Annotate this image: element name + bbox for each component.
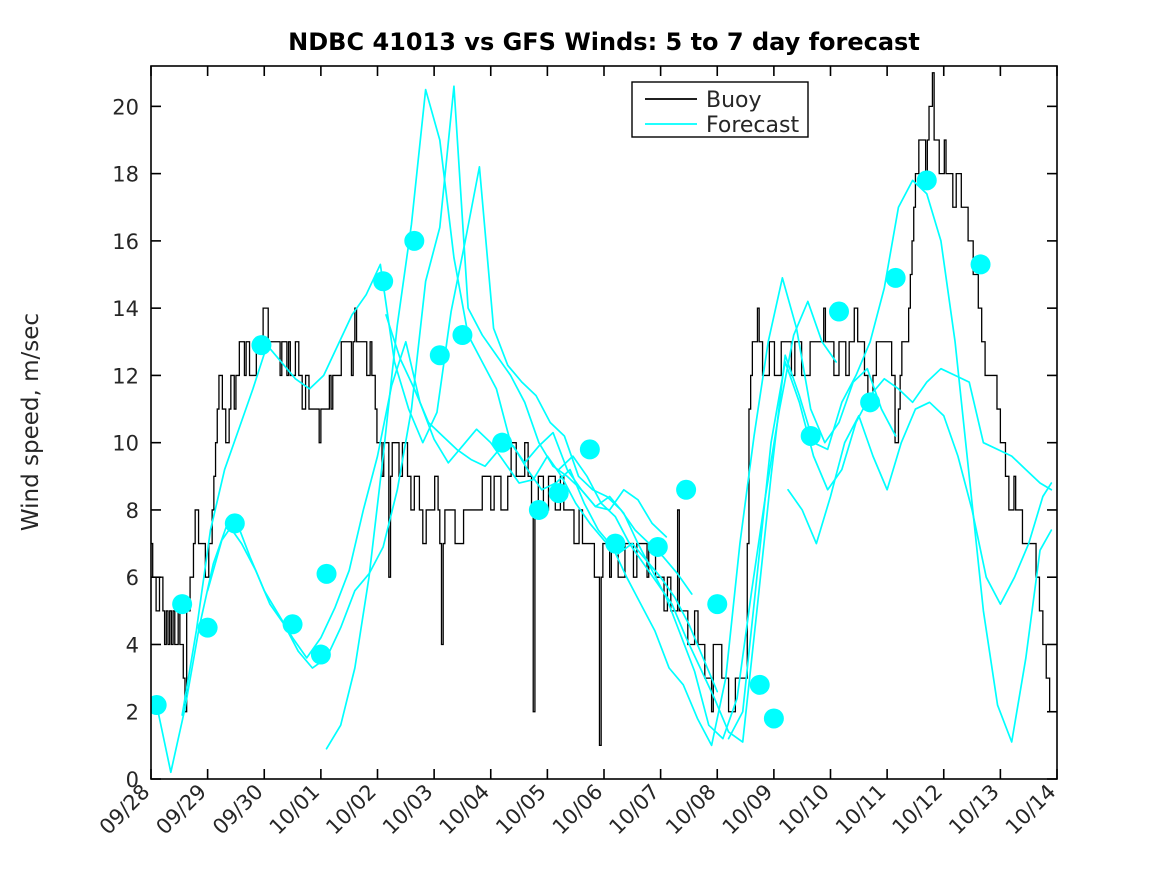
chart-title: NDBC 41013 vs GFS Winds: 5 to 7 day fore… <box>288 28 920 56</box>
forecast-marker-dot <box>605 534 625 554</box>
forecast-marker-dot <box>529 500 549 520</box>
y-tick-label: 14 <box>112 297 139 321</box>
forecast-marker-dot <box>492 433 512 453</box>
y-tick-label: 12 <box>112 364 139 388</box>
forecast-marker-dot <box>430 345 450 365</box>
forecast-marker-dot <box>829 302 849 322</box>
forecast-marker-dot <box>452 325 472 345</box>
legend-label-forecast: Forecast <box>706 113 799 138</box>
forecast-marker-dot <box>917 170 937 190</box>
forecast-marker-dot <box>707 594 727 614</box>
y-tick-label: 10 <box>112 432 139 456</box>
y-tick-label: 8 <box>126 499 139 523</box>
forecast-marker-dot <box>549 483 569 503</box>
wind-speed-time-series-chart: NDBC 41013 vs GFS Winds: 5 to 7 day fore… <box>0 0 1167 875</box>
forecast-marker-dot <box>225 513 245 533</box>
forecast-marker-dot <box>860 392 880 412</box>
forecast-marker-dot <box>750 675 770 695</box>
forecast-marker-dot <box>311 645 331 665</box>
y-axis-label: Wind speed, m/sec <box>18 313 44 531</box>
y-tick-label: 20 <box>112 95 139 119</box>
forecast-marker-dot <box>764 708 784 728</box>
forecast-marker-dot <box>676 480 696 500</box>
forecast-marker-dot <box>404 231 424 251</box>
forecast-marker-dot <box>373 271 393 291</box>
chart-figure: NDBC 41013 vs GFS Winds: 5 to 7 day fore… <box>0 0 1167 875</box>
forecast-marker-dot <box>317 564 337 584</box>
legend-label-buoy: Buoy <box>706 88 762 113</box>
forecast-marker-dot <box>198 618 218 638</box>
forecast-marker-dot <box>971 254 991 274</box>
y-tick-label: 6 <box>126 566 139 590</box>
forecast-marker-dot <box>580 439 600 459</box>
forecast-marker-dot <box>648 537 668 557</box>
forecast-marker-dot <box>886 268 906 288</box>
chart-legend: Buoy Forecast <box>632 82 808 138</box>
figure-background <box>0 0 1167 875</box>
y-tick-label: 2 <box>126 701 139 725</box>
y-tick-label: 16 <box>112 230 139 254</box>
forecast-marker-dot <box>251 335 271 355</box>
forecast-marker-dot <box>283 614 303 634</box>
forecast-marker-dot <box>801 426 821 446</box>
y-tick-label: 4 <box>126 633 139 657</box>
y-tick-label: 18 <box>112 163 139 187</box>
forecast-marker-dot <box>172 594 192 614</box>
